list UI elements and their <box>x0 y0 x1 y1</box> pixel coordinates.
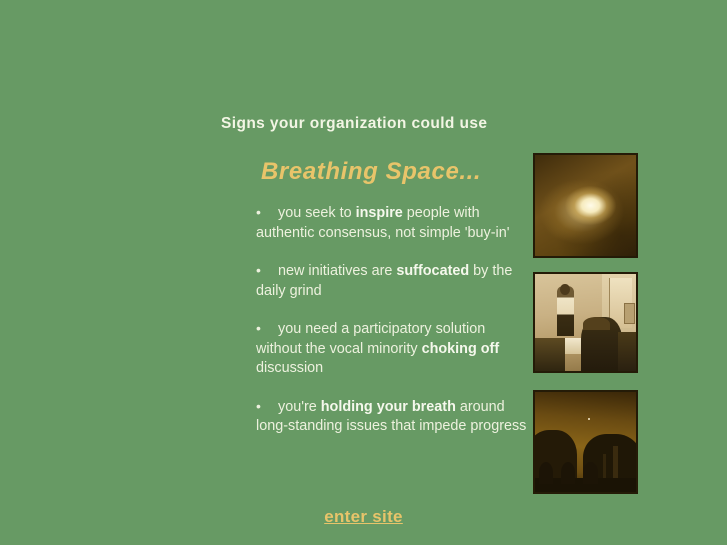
bullet-icon: • <box>256 397 278 417</box>
photo-meeting-room <box>533 272 638 373</box>
bullet-icon: • <box>256 261 278 281</box>
bullet-icon: • <box>256 203 278 223</box>
list-item-text-part: discussion <box>256 360 323 376</box>
room-foreground-right <box>618 332 636 371</box>
list-item-text-part: you're <box>278 399 321 415</box>
sky-star <box>588 418 590 420</box>
splash-page: Signs your organization could use Breath… <box>0 0 727 545</box>
photo-trees-dusk <box>533 390 638 494</box>
page-tagline: Signs your organization could use <box>221 115 487 133</box>
enter-site-container: enter site <box>0 507 727 527</box>
list-item-emphasis: suffocated <box>396 263 469 279</box>
tree-shrub <box>561 462 575 484</box>
enter-site-link[interactable]: enter site <box>324 507 403 526</box>
photo-meeting-room-image <box>535 274 636 371</box>
tree-shrub <box>539 462 553 484</box>
photo-sky-cloud-image <box>535 155 636 256</box>
room-wall-picture <box>624 303 635 324</box>
bullet-icon: • <box>256 319 278 339</box>
list-item: •you seek to inspire people with authent… <box>256 203 531 243</box>
list-item-emphasis: inspire <box>356 205 403 221</box>
list-item-emphasis: holding your breath <box>321 399 456 415</box>
page-title: Breathing Space... <box>261 158 481 186</box>
list-item: •you're holding your breath around long-… <box>256 397 531 437</box>
list-item-text-part: you seek to <box>278 205 356 221</box>
signs-list: •you seek to inspire people with authent… <box>256 203 531 455</box>
room-foreground-left <box>535 338 565 371</box>
list-item: •you need a participatory solution witho… <box>256 319 531 379</box>
photo-trees-dusk-image <box>535 392 636 492</box>
list-item-emphasis: choking off <box>422 341 500 357</box>
tree-shrub <box>583 462 597 484</box>
list-item-text-part: new initiatives are <box>278 263 396 279</box>
photo-sky-cloud <box>533 153 638 258</box>
room-foreground-person-cap <box>583 317 609 331</box>
list-item: •new initiatives are suffocated by the d… <box>256 261 531 301</box>
